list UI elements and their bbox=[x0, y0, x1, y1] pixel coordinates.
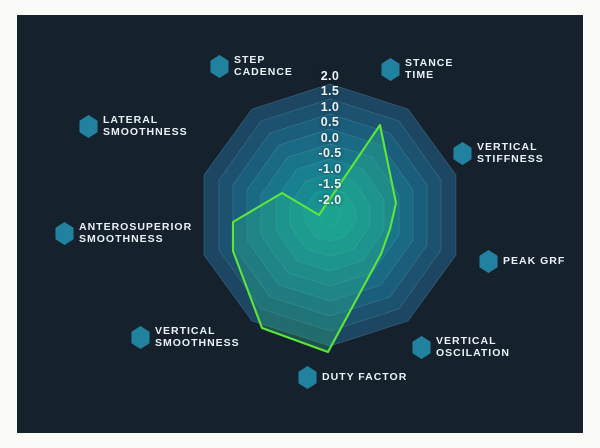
hexagon-bullet-icon bbox=[78, 115, 99, 138]
axis-label-anterosuperior-smoothness-text: ANTEROSUPERIORSMOOTHNESS bbox=[79, 222, 192, 245]
screenshot-frame: 2.0 1.5 1.0 0.5 0.0 -0.5 -1.0 -1.5 -2.0 … bbox=[0, 0, 600, 448]
axis-label-stance-time-text: STANCETIME bbox=[405, 58, 453, 81]
axis-label-vertical-oscilation[interactable]: VERTICALOSCILATION bbox=[411, 336, 510, 359]
hexagon-bullet-icon bbox=[297, 366, 318, 389]
hexagon-bullet-icon bbox=[54, 222, 75, 245]
axis-label-vertical-smoothness-text: VERTICALSMOOTHNESS bbox=[155, 326, 240, 349]
tick-label-2-0: 2.0 bbox=[307, 70, 353, 83]
axis-label-lateral-smoothness[interactable]: LATERALSMOOTHNESS bbox=[78, 115, 188, 138]
axis-label-vertical-stiffness-text: VERTICALSTIFFNESS bbox=[477, 142, 544, 165]
axis-label-vertical-stiffness[interactable]: VERTICALSTIFFNESS bbox=[452, 142, 544, 165]
tick-label-1-0: 1.0 bbox=[307, 101, 353, 114]
axis-label-vertical-smoothness[interactable]: VERTICALSMOOTHNESS bbox=[130, 326, 240, 349]
tick-label-neg-2-0: -2.0 bbox=[307, 194, 353, 207]
hexagon-bullet-icon bbox=[209, 55, 230, 78]
axis-label-vertical-oscilation-text: VERTICALOSCILATION bbox=[436, 336, 510, 359]
axis-label-anterosuperior-smoothness[interactable]: ANTEROSUPERIORSMOOTHNESS bbox=[54, 222, 192, 245]
axis-label-step-cadence-text: STEPCADENCE bbox=[234, 55, 293, 78]
axis-label-step-cadence[interactable]: STEPCADENCE bbox=[209, 55, 293, 78]
tick-label-neg-1-5: -1.5 bbox=[307, 178, 353, 191]
hexagon-bullet-icon bbox=[411, 336, 432, 359]
tick-label-neg-0-5: -0.5 bbox=[307, 147, 353, 160]
axis-label-peak-grf[interactable]: PEAK GRF bbox=[478, 250, 565, 273]
tick-label-neg-1-0: -1.0 bbox=[307, 163, 353, 176]
axis-label-peak-grf-text: PEAK GRF bbox=[503, 256, 565, 268]
axis-label-duty-factor[interactable]: DUTY FACTOR bbox=[297, 366, 407, 389]
radar-chart-panel: 2.0 1.5 1.0 0.5 0.0 -0.5 -1.0 -1.5 -2.0 … bbox=[17, 15, 583, 433]
hexagon-bullet-icon bbox=[380, 58, 401, 81]
axis-label-duty-factor-text: DUTY FACTOR bbox=[322, 372, 407, 384]
tick-label-0-5: 0.5 bbox=[307, 116, 353, 129]
hexagon-bullet-icon bbox=[452, 142, 473, 165]
tick-label-0-0: 0.0 bbox=[307, 132, 353, 145]
axis-label-lateral-smoothness-text: LATERALSMOOTHNESS bbox=[103, 115, 188, 138]
axis-label-stance-time[interactable]: STANCETIME bbox=[380, 58, 453, 81]
hexagon-bullet-icon bbox=[130, 326, 151, 349]
tick-label-1-5: 1.5 bbox=[307, 85, 353, 98]
hexagon-bullet-icon bbox=[478, 250, 499, 273]
